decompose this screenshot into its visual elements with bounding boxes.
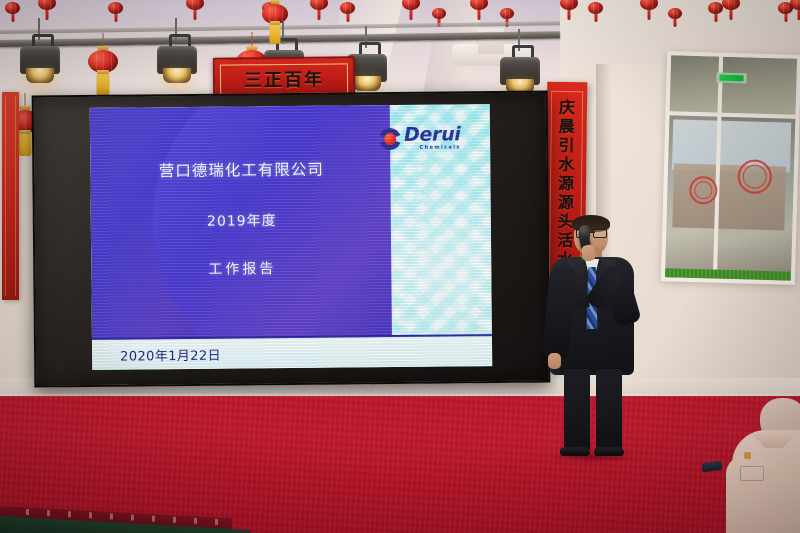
tassel-lantern-0 <box>88 48 118 101</box>
lantern-tassel <box>346 14 349 22</box>
presenter-shoe-right <box>594 447 624 456</box>
derui-wordmark: Derui <box>404 126 461 144</box>
mini-lantern-1-6 <box>778 2 793 25</box>
lantern-tassel <box>410 10 413 20</box>
lantern-rib <box>437 9 438 18</box>
lantern-globe <box>5 2 20 14</box>
mini-lantern-2-2 <box>668 8 682 29</box>
lantern-rib <box>111 52 112 71</box>
derui-logo-text-block: Derui Chemicals <box>404 126 461 151</box>
couplet-char-2: 引 <box>558 136 574 155</box>
lantern-rib <box>788 3 789 13</box>
stage-spotlight-0 <box>18 44 62 88</box>
slide-report-line: 工作报告 <box>117 257 367 279</box>
presentation-slide: Derui Chemicals 营口德瑞化工有限公司 2019年度 工作报告 2… <box>90 104 492 370</box>
couplet-char-1: 晨 <box>559 117 575 136</box>
lantern-rib <box>783 3 784 13</box>
spotlight-lamp-glow <box>26 68 54 83</box>
attendee-button <box>744 452 751 459</box>
couplet-char-0: 庆 <box>559 98 575 117</box>
mini-lantern-0-1 <box>186 0 204 23</box>
lantern-rib <box>593 3 594 13</box>
lantern-rib <box>269 6 270 23</box>
lantern-globe <box>708 2 723 14</box>
mini-lantern-0-6 <box>640 0 658 23</box>
couplet-char-5: 源 <box>558 193 574 212</box>
slide-year-line: 2019年度 <box>117 209 367 231</box>
lantern-globe <box>722 0 740 10</box>
mini-lantern-1-5 <box>708 2 723 25</box>
lantern-tassel <box>478 10 481 20</box>
lantern-rib <box>796 0 797 9</box>
mini-lantern-0-2 <box>310 0 328 23</box>
window-pane-top-right <box>722 57 798 115</box>
window-pane-top-left <box>670 55 720 112</box>
lantern-globe <box>640 0 658 10</box>
tassel-lantern-2 <box>262 2 288 48</box>
lantern-rib <box>441 9 442 18</box>
lantern-tassel <box>568 10 571 20</box>
lantern-rib <box>350 3 351 13</box>
lantern-globe <box>500 8 514 19</box>
lantern-rib <box>192 0 193 9</box>
lantern-rib <box>408 0 409 9</box>
lantern-rib <box>509 9 510 18</box>
lantern-rib <box>476 0 477 9</box>
lantern-rib <box>598 3 599 13</box>
slide-date-text: 2020年1月22日 <box>120 345 221 365</box>
left-red-couplet <box>2 92 19 300</box>
presenter-legs <box>562 369 624 455</box>
lantern-rib <box>118 3 119 13</box>
lantern-rib <box>713 3 714 13</box>
couplet-char-3: 水 <box>558 155 574 174</box>
lantern-rib <box>316 0 317 9</box>
lantern-globe <box>402 0 420 10</box>
lantern-tassel <box>674 19 677 27</box>
top-red-banner-text: 三正百年 <box>220 63 348 94</box>
lantern-tassel <box>97 74 110 96</box>
exterior-window <box>661 51 800 285</box>
stage-spotlight-1 <box>155 44 199 88</box>
lantern-tassel <box>46 10 49 20</box>
lantern-globe <box>588 2 603 14</box>
lantern-rib <box>718 3 719 13</box>
lantern-rib <box>734 0 735 9</box>
lantern-rib <box>50 0 51 9</box>
lantern-rib <box>10 3 11 13</box>
lantern-tassel <box>114 14 117 22</box>
lantern-tassel <box>19 134 32 156</box>
mini-lantern-1-0 <box>5 2 20 25</box>
spotlight-lamp-glow <box>163 68 191 83</box>
lantern-rib <box>482 0 483 9</box>
lantern-rib <box>44 0 45 9</box>
slide-company-line: 营口德瑞化工有限公司 <box>116 157 366 181</box>
lantern-rib <box>103 52 104 71</box>
couplet-char-4: 源 <box>558 174 574 193</box>
lantern-rib <box>15 3 16 13</box>
lantern-rib <box>652 0 653 9</box>
mini-lantern-0-0 <box>38 0 56 23</box>
led-display-screen[interactable]: Derui Chemicals 营口德瑞化工有限公司 2019年度 工作报告 2… <box>32 91 551 388</box>
exit-sign-glow-icon <box>719 75 743 82</box>
lantern-rib <box>572 0 573 9</box>
lantern-rib <box>414 0 415 9</box>
lantern-tassel <box>648 10 651 20</box>
derui-subtitle: Chemicals <box>404 144 461 151</box>
lantern-tassel <box>318 10 321 20</box>
exit-sign <box>716 73 746 84</box>
lantern-rib <box>566 0 567 9</box>
seated-attendee-foreground <box>726 404 800 533</box>
presenter-leg-right <box>596 369 622 451</box>
presenter-shoe-left <box>560 447 590 456</box>
logo-red-dot <box>384 133 396 145</box>
derui-logo: Derui Chemicals <box>379 126 461 151</box>
lantern-tassel <box>270 25 281 44</box>
mini-lantern-1-3 <box>340 2 355 25</box>
lantern-rib <box>282 6 283 23</box>
lantern-tassel <box>194 10 197 20</box>
lantern-globe <box>432 8 446 19</box>
slide-title-block: 营口德瑞化工有限公司 2019年度 工作报告 <box>116 157 367 279</box>
lantern-globe <box>38 0 56 10</box>
presentation-photo-scene: 三正百年 庆晨引水源源头活水 Derui Chemicals <box>0 0 800 533</box>
spotlight-lamp-glow <box>353 76 381 91</box>
lantern-rib <box>25 112 26 131</box>
lantern-globe <box>668 8 682 19</box>
presenter-with-microphone <box>536 215 648 465</box>
mini-lantern-1-1 <box>108 2 123 25</box>
mini-lantern-0-5 <box>560 0 578 23</box>
lantern-globe <box>310 0 328 10</box>
lantern-rib <box>113 3 114 13</box>
lantern-rib <box>198 0 199 9</box>
lantern-rib <box>96 52 97 71</box>
lantern-tassel <box>11 14 14 22</box>
mini-lantern-0-3 <box>402 0 420 23</box>
glasses-lens-right <box>593 229 607 238</box>
lantern-globe <box>470 0 488 10</box>
lantern-rib <box>505 9 506 18</box>
lantern-rib <box>728 0 729 9</box>
attendee-pocket <box>740 466 764 481</box>
lantern-rib <box>345 3 346 13</box>
presenter-hand-right <box>548 353 561 369</box>
lantern-rib <box>275 6 276 23</box>
lantern-tassel <box>594 14 597 22</box>
lantern-rib <box>673 9 674 18</box>
derui-logo-mark-icon <box>379 128 401 150</box>
lantern-rib <box>677 9 678 18</box>
lantern-globe <box>186 0 204 10</box>
lantern-rib <box>322 0 323 9</box>
lantern-globe <box>108 2 123 14</box>
mini-lantern-0-4 <box>470 0 488 23</box>
lantern-tassel <box>714 14 717 22</box>
mini-lantern-1-4 <box>588 2 603 25</box>
lantern-tassel <box>730 10 733 20</box>
mini-lantern-0-7 <box>722 0 740 23</box>
lantern-rib <box>646 0 647 9</box>
lantern-globe <box>778 2 793 14</box>
stage-back-edge-highlight <box>0 394 800 397</box>
lantern-tassel <box>784 14 787 22</box>
lantern-globe <box>560 0 578 10</box>
presenter-leg-left <box>564 369 590 451</box>
lantern-globe <box>340 2 355 14</box>
